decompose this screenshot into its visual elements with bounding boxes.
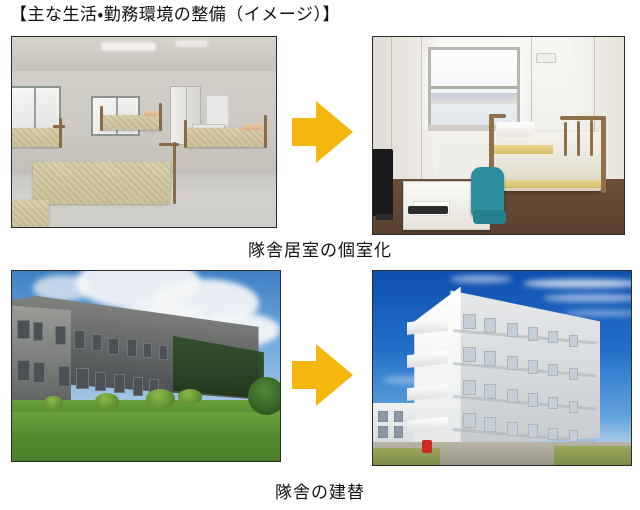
building-window	[484, 351, 496, 367]
photo-barracks-old	[11, 270, 281, 462]
pillow	[496, 122, 535, 137]
arrow-head	[316, 101, 353, 163]
bed-rail	[53, 125, 64, 128]
building-window	[33, 362, 44, 383]
building-window	[548, 428, 558, 440]
photo-dorm-shared	[11, 36, 277, 228]
building-window	[528, 360, 538, 374]
desk-chair-back	[471, 167, 504, 216]
building-window	[58, 366, 71, 387]
bed	[33, 162, 170, 204]
mattress	[186, 128, 265, 147]
neighbour-window	[394, 411, 404, 423]
bed-rail	[173, 142, 176, 205]
ceiling-light	[176, 41, 208, 47]
bed	[12, 200, 49, 227]
pillow	[243, 124, 262, 130]
building-window	[463, 314, 475, 330]
bed-spindle	[564, 122, 567, 156]
building-window	[74, 330, 85, 349]
mattress	[102, 115, 160, 130]
neighbour-window	[378, 426, 388, 438]
building-window	[548, 331, 558, 343]
bed-footboard-rail	[560, 116, 605, 120]
bed	[493, 132, 601, 191]
television	[373, 149, 393, 216]
neighbour-window	[378, 411, 388, 423]
building-window	[114, 374, 125, 393]
bed-rail	[59, 118, 62, 148]
building-window	[133, 377, 143, 396]
bed-rail	[159, 143, 178, 146]
transition-arrow-dormitory	[292, 101, 354, 163]
building-window	[528, 393, 538, 407]
bush	[44, 396, 63, 409]
neighbour-window	[394, 426, 404, 438]
building-window	[484, 384, 496, 400]
mirror	[205, 94, 230, 128]
page-title: 【主な生活・勤務環境の整備（イメージ）】	[10, 2, 340, 28]
building-window	[548, 397, 558, 409]
bed-rail	[184, 120, 187, 149]
building-window	[17, 320, 30, 339]
building-window	[528, 327, 538, 341]
bush	[146, 389, 175, 408]
building-window	[108, 338, 118, 355]
building-window	[569, 430, 577, 442]
cloud-streak	[543, 294, 631, 302]
blanket	[493, 180, 601, 188]
building-window	[55, 326, 66, 345]
mattress	[12, 128, 60, 147]
building-window	[463, 380, 475, 396]
cloud-streak	[450, 275, 512, 283]
bush	[95, 393, 119, 410]
mattress	[33, 162, 170, 204]
building-window	[569, 335, 577, 347]
bush	[178, 389, 202, 404]
arrow-head	[316, 344, 353, 406]
mattress	[12, 200, 49, 227]
building-window	[17, 360, 30, 381]
bed-spindle	[577, 121, 580, 156]
room-private-scene	[373, 37, 624, 234]
grass-foreground	[12, 412, 280, 461]
building-window	[159, 345, 168, 360]
building-window	[143, 343, 152, 358]
wall-panel-seam	[421, 37, 422, 183]
bed-headboard-rail	[489, 114, 506, 118]
bed	[12, 128, 60, 147]
desk-chair-seat	[473, 210, 506, 224]
window-view	[431, 93, 516, 103]
window-mullion	[431, 86, 516, 89]
keyboard	[408, 206, 448, 214]
wall-sconce	[536, 53, 556, 63]
blanket	[493, 145, 552, 154]
building-window	[484, 417, 496, 433]
television-stand	[376, 214, 394, 220]
bed-rail	[159, 103, 162, 131]
bed-post	[601, 116, 606, 193]
tree	[248, 377, 280, 415]
bed	[186, 128, 265, 147]
bed	[102, 115, 160, 130]
building-window	[484, 318, 496, 334]
building-window	[127, 339, 137, 356]
building-window	[76, 368, 89, 389]
building-window	[569, 401, 577, 413]
dorm-shared-scene	[12, 37, 276, 227]
building-window	[507, 323, 518, 337]
barracks-new-scene	[373, 271, 631, 465]
photo-barracks-new	[372, 270, 632, 466]
caption-barracks: 隊舎の建替	[0, 478, 640, 503]
grass-patch	[554, 446, 631, 465]
ceiling-light	[102, 43, 155, 51]
barracks-old-scene	[12, 271, 280, 461]
building-window	[569, 368, 577, 380]
building-window	[548, 364, 558, 376]
caption-dormitory: 隊舎居室の個室化	[0, 236, 640, 261]
photo-room-private	[372, 36, 625, 235]
transition-arrow-barracks	[292, 344, 354, 406]
red-container	[422, 440, 432, 454]
building-window	[507, 356, 518, 370]
building-window	[95, 372, 106, 391]
bed-spindle	[590, 120, 593, 157]
pillow	[144, 111, 159, 116]
bed-post	[489, 114, 494, 170]
building-window	[507, 422, 518, 436]
building-window	[463, 347, 475, 363]
building-window	[507, 389, 518, 403]
building-window	[528, 424, 538, 438]
bed-rail	[264, 115, 267, 148]
building-window	[463, 413, 475, 429]
cloud-streak	[564, 310, 631, 316]
building-window	[92, 334, 102, 351]
building-window	[33, 322, 43, 341]
bed-rail	[100, 106, 103, 131]
